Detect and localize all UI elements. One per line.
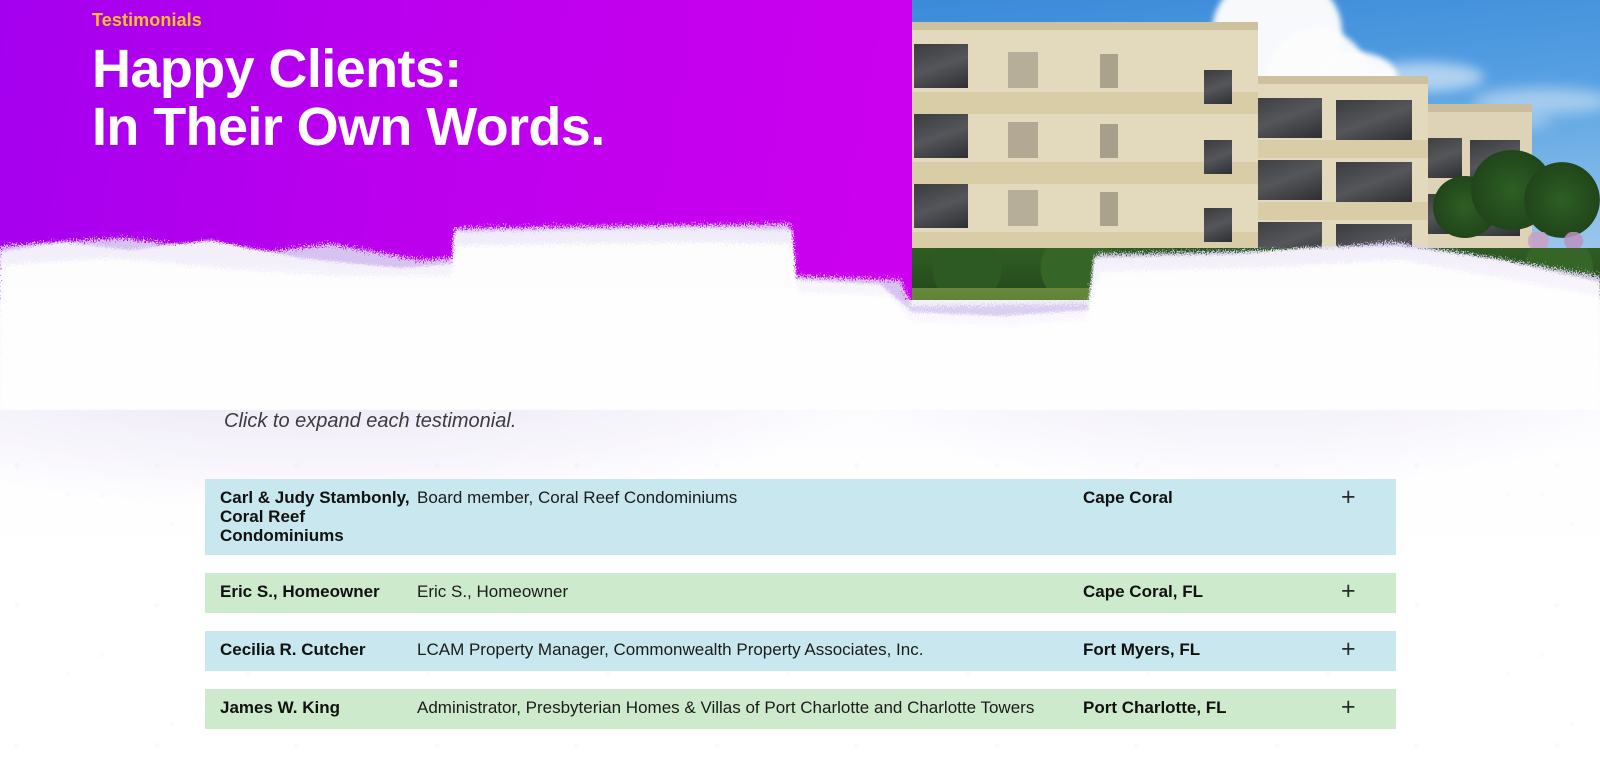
page-title-line-2: In Their Own Words. [92,98,605,156]
eyebrow-label: Testimonials [92,9,202,31]
testimonial-location: Port Charlotte, FL [1083,698,1341,717]
facade-band [1230,202,1428,220]
testimonial-role: Board member, Coral Reef Condominiums [417,488,1083,508]
hero-photo [912,0,1600,330]
testimonial-list: Carl & Judy Stambonly, Coral Reef Condom… [205,479,1396,747]
facade-band [1230,140,1428,158]
testimonials-page: Testimonials Happy Clients: In Their Own… [0,0,1600,758]
page-title-line-1: Happy Clients: [92,40,605,98]
expand-plus-icon[interactable]: + [1341,488,1396,507]
testimonial-role: Administrator, Presbyterian Homes & Vill… [417,698,1083,718]
testimonial-name: Carl & Judy Stambonly, Coral Reef Condom… [205,488,417,545]
testimonial-name: Eric S., Homeowner [205,582,417,601]
testimonial-location: Fort Myers, FL [1083,640,1341,659]
building-block-main [912,30,1258,275]
testimonial-row[interactable]: Carl & Judy Stambonly, Coral Reef Condom… [205,479,1396,555]
expand-plus-icon[interactable]: + [1341,582,1396,601]
testimonial-role: LCAM Property Manager, Commonwealth Prop… [417,640,1083,660]
testimonial-row[interactable]: Cecilia R. Cutcher LCAM Property Manager… [205,631,1396,671]
testimonial-row[interactable]: Eric S., Homeowner Eric S., Homeowner Ca… [205,573,1396,613]
testimonial-name: James W. King [205,698,417,717]
testimonial-location: Cape Coral [1083,488,1341,507]
hero-section: Testimonials Happy Clients: In Their Own… [0,0,1600,330]
palm-tree [1524,162,1600,238]
testimonial-name: Cecilia R. Cutcher [205,640,417,659]
testimonial-role: Eric S., Homeowner [417,582,1083,602]
expand-plus-icon[interactable]: + [1341,698,1396,717]
testimonial-row[interactable]: James W. King Administrator, Presbyteria… [205,689,1396,729]
expand-hint-text: Click to expand each testimonial. [224,408,516,434]
testimonial-location: Cape Coral, FL [1083,582,1341,601]
page-title: Happy Clients: In Their Own Words. [92,40,605,156]
expand-plus-icon[interactable]: + [1341,640,1396,659]
